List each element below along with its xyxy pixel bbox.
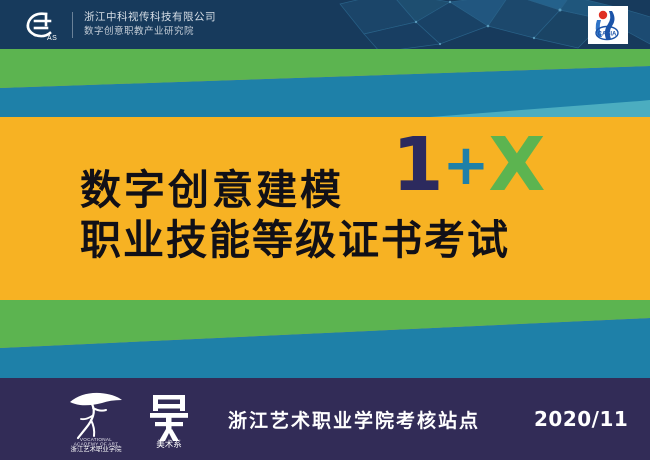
footer-bar: VOCATIONAL ACADEMY OF ART 浙江艺术职业学院 xyxy=(0,378,650,460)
svg-text:美术系: 美术系 xyxy=(156,439,182,449)
footer-logo-group: VOCATIONAL ACADEMY OF ART 浙江艺术职业学院 xyxy=(62,386,194,452)
fine-arts-department-seal-icon: 美术系 xyxy=(144,389,194,449)
vocational-academy-of-art-logo-icon: VOCATIONAL ACADEMY OF ART 浙江艺术职业学院 xyxy=(62,386,130,452)
footer-date-label: 2020/11 xyxy=(534,407,628,431)
header-org-text: 浙江中科视传科技有限公司 数字创意职教产业研究院 xyxy=(84,11,216,38)
header-org-line-1: 浙江中科视传科技有限公司 xyxy=(84,11,216,23)
header-org-line-2: 数字创意职教产业研究院 xyxy=(84,26,216,38)
title-line-1: 数字创意建模 xyxy=(80,165,510,215)
header-bar: AS 浙江中科视传科技有限公司 数字创意职教产业研究院 CASIA xyxy=(0,0,650,49)
svg-text:浙江艺术职业学院: 浙江艺术职业学院 xyxy=(70,444,122,452)
cas-ce-logo-icon: AS xyxy=(16,5,68,45)
svg-text:CASIA: CASIA xyxy=(598,32,617,38)
footer-station-label: 浙江艺术职业学院考核站点 xyxy=(228,406,480,433)
svg-text:AS: AS xyxy=(47,35,57,42)
poster-root: AS 浙江中科视传科技有限公司 数字创意职教产业研究院 CASIA 1+X xyxy=(0,0,650,460)
casia-logo-icon: CASIA xyxy=(588,6,628,44)
title-block: 数字创意建模 职业技能等级证书考试 xyxy=(80,165,510,265)
header-divider xyxy=(72,12,73,38)
title-line-2: 职业技能等级证书考试 xyxy=(80,215,510,265)
